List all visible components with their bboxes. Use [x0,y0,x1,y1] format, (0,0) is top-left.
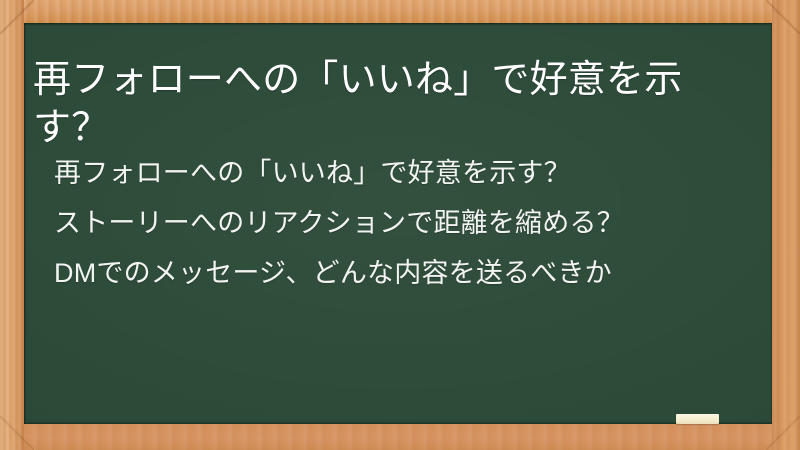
chalk-stick-icon [676,414,719,424]
page-title: 再フォローへの「いいね」で好意を示す？ [33,56,745,152]
list-item[interactable]: DMでのメッセージ、どんな内容を送るべきか [54,248,744,298]
frame-plank-right [772,0,800,450]
list-item[interactable]: 再フォローへの「いいね」で好意を示す？ [54,148,744,198]
frame-plank-bottom [0,424,800,450]
table-of-contents-list: 再フォローへの「いいね」で好意を示す？ ストーリーへのリアクションで距離を縮める… [54,148,744,298]
list-item[interactable]: ストーリーへのリアクションで距離を縮める？ [54,198,744,248]
frame-plank-top [0,0,800,23]
chalkboard-wooden-frame: 再フォローへの「いいね」で好意を示す？ 再フォローへの「いいね」で好意を示す？ … [0,0,800,450]
chalkboard-bottom-lip [24,421,772,424]
frame-plank-left [0,0,24,450]
chalkboard-surface: 再フォローへの「いいね」で好意を示す？ 再フォローへの「いいね」で好意を示す？ … [24,23,772,424]
